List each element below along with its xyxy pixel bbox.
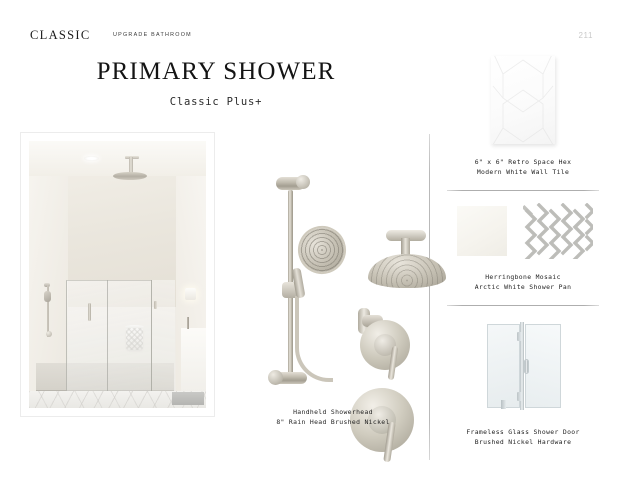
slide-bar-upper-cap bbox=[296, 175, 310, 189]
shower-pan-caption-line2: Arctic White Shower Pan bbox=[447, 283, 599, 293]
shower-door-hinge-top bbox=[517, 332, 522, 341]
wall-tile-caption: 6" x 6" Retro Space Hex Modern White Wal… bbox=[447, 158, 599, 177]
arctic-white-swatch bbox=[457, 206, 507, 256]
shower-door-floor-bracket bbox=[501, 400, 506, 409]
brand-logo: CLASSIC bbox=[30, 28, 91, 43]
section-divider-2 bbox=[447, 305, 599, 306]
rain-showerhead bbox=[368, 254, 446, 288]
column-divider-vertical bbox=[429, 134, 430, 460]
center-caption-line2: 8" Rain Head Brushed Nickel bbox=[238, 418, 428, 428]
hex-tile-pattern-icon bbox=[491, 56, 555, 144]
primary-shower-photo bbox=[29, 141, 206, 408]
glass-panel-seam bbox=[107, 280, 108, 408]
shower-hose bbox=[295, 296, 333, 382]
hex-tile-swatch bbox=[491, 56, 555, 144]
wall-tile-caption-line2: Modern White Wall Tile bbox=[447, 168, 599, 178]
glass-return-panel bbox=[151, 280, 175, 408]
handheld-shower-in-photo bbox=[44, 291, 51, 302]
glass-return-hinge bbox=[154, 301, 157, 309]
herringbone-pattern-icon bbox=[523, 203, 593, 259]
valve-trim-in-photo bbox=[46, 331, 52, 337]
recessed-light-icon bbox=[84, 156, 99, 161]
slide-bar-lower-cap bbox=[268, 370, 283, 385]
hero-photo-frame bbox=[21, 133, 214, 416]
center-caption: Handheld Showerhead 8" Rain Head Brushed… bbox=[238, 408, 428, 427]
herringbone-mosaic-swatch bbox=[523, 203, 593, 259]
project-name: UPGRADE BATHROOM bbox=[113, 32, 192, 38]
design-board-page: CLASSIC UPGRADE BATHROOM 211 PRIMARY SHO… bbox=[0, 0, 621, 480]
shower-door-hinge-bottom bbox=[517, 392, 522, 401]
bath-mat bbox=[172, 392, 204, 405]
wall-tile-caption-line1: 6" x 6" Retro Space Hex bbox=[447, 158, 599, 168]
ceiling-rain-head bbox=[113, 172, 147, 180]
shower-door-image bbox=[479, 316, 569, 413]
page-subtitle: Classic Plus+ bbox=[0, 96, 432, 108]
shower-door-caption-line1: Frameless Glass Shower Door bbox=[441, 428, 605, 438]
shower-door-left-panel bbox=[487, 324, 520, 408]
shower-door-pull-handle bbox=[524, 359, 529, 374]
shower-pan-caption-line1: Herringbone Mosaic bbox=[447, 273, 599, 283]
wall-sconce-icon bbox=[185, 288, 196, 300]
shower-door-caption-line2: Brushed Nickel Hardware bbox=[441, 438, 605, 448]
wall-sconce-arm bbox=[187, 317, 189, 329]
glass-door-panel bbox=[66, 280, 152, 408]
center-caption-line1: Handheld Showerhead bbox=[238, 408, 428, 418]
shower-door-caption: Frameless Glass Shower Door Brushed Nick… bbox=[441, 428, 605, 447]
page-header: CLASSIC UPGRADE BATHROOM 211 bbox=[30, 28, 593, 46]
page-title: PRIMARY SHOWER bbox=[0, 58, 432, 86]
shower-fixtures-image bbox=[238, 160, 428, 400]
vanity-cabinet bbox=[181, 328, 206, 397]
shower-pan-caption: Herringbone Mosaic Arctic White Shower P… bbox=[447, 273, 599, 292]
page-number: 211 bbox=[578, 31, 593, 40]
section-divider-1 bbox=[447, 190, 599, 191]
shower-pan-swatches bbox=[447, 203, 599, 259]
shower-door-right-panel bbox=[525, 324, 561, 408]
shower-ceiling bbox=[29, 141, 206, 176]
glass-door-handle bbox=[88, 303, 91, 321]
